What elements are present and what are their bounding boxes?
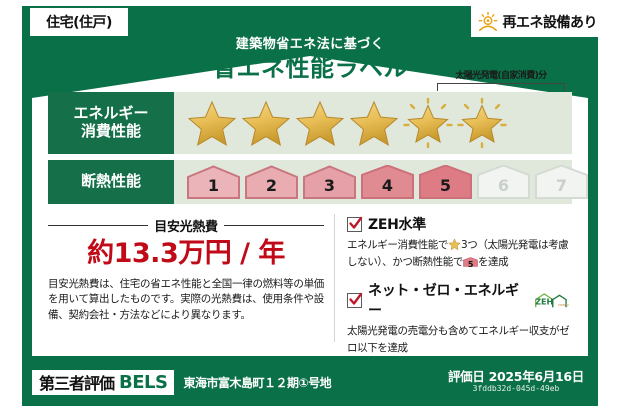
bels-jp-label: 第三者評価	[39, 370, 114, 394]
energy-performance-label: 住宅(住戸) 再エネ設備あり 建築物省エネ法に基づく 省エネ性能ラベル	[0, 0, 620, 413]
svg-text:nearly: nearly	[558, 303, 569, 307]
utility-cost-block: 目安光熱費 約13.3万円 / 年 目安光熱費は、住宅の省エネ性能と全国一律の燃…	[48, 214, 334, 342]
label-footer: 第三者評価 BELS 東海市富木島町１２期①号地 評価日 2025年6月16日 …	[32, 364, 588, 400]
star-icon	[186, 98, 238, 148]
evaluation-id: 3fddb32d-045d-49eb	[448, 384, 584, 394]
checkbox-checked-icon	[347, 293, 362, 308]
net-zero-heading: ネット・ゼロ・エネルギー ZEH nearly	[347, 280, 572, 320]
energy-label-line2: 消費性能	[81, 123, 141, 141]
grade-value: 4	[382, 176, 393, 195]
grade-value: 7	[556, 176, 567, 195]
energy-label-line1: エネルギー	[73, 105, 148, 123]
grade-value: 6	[498, 176, 509, 195]
zeh-logo-icon: ZEH nearly	[530, 292, 572, 309]
star-icon	[448, 238, 461, 251]
zeh-body-pre: エネルギー消費性能で	[347, 239, 448, 251]
grade-value: 3	[324, 176, 335, 195]
grade-value: 5	[440, 176, 451, 195]
star-icon-solar	[402, 98, 454, 148]
zeh-standard-body: エネルギー消費性能で3つ（太陽光発電は考慮しない）、かつ断熱性能で5を達成	[347, 237, 572, 271]
insulation-performance-row: 断熱性能 1 2 3 4	[48, 160, 572, 204]
zeh-body-post: を達成	[478, 256, 508, 268]
utility-cost-title: 目安光熱費	[154, 216, 218, 235]
renewable-equipment-badge: 再エネ設備あり	[471, 6, 607, 37]
zeh-standard-title: ZEH水準	[368, 214, 426, 234]
bels-badge: 第三者評価 BELS	[32, 370, 174, 395]
evaluation-date: 評価日 2025年6月16日	[448, 370, 584, 384]
insulation-grade-1: 1	[186, 165, 241, 199]
checkbox-checked-icon	[347, 217, 362, 232]
details-section: 目安光熱費 約13.3万円 / 年 目安光熱費は、住宅の省エネ性能と全国一律の燃…	[48, 214, 572, 342]
insulation-grade-scale: 1 2 3 4 5	[174, 165, 589, 199]
utility-cost-note: 目安光熱費は、住宅の省エネ性能と全国一律の燃料等の単価を用いて算出したものです。…	[48, 277, 324, 324]
criteria-block: ZEH水準 エネルギー消費性能で3つ（太陽光発電は考慮しない）、かつ断熱性能で5…	[334, 214, 572, 342]
zeh-standard-heading: ZEH水準	[347, 214, 572, 234]
insulation-grade-4: 4	[360, 165, 415, 199]
evaluation-meta: 評価日 2025年6月16日 3fddb32d-045d-49eb	[448, 370, 588, 394]
insulation-grade-2: 2	[244, 165, 299, 199]
net-zero-energy-item: ネット・ゼロ・エネルギー ZEH nearly 太陽光発電の売電分も含めてエネル…	[347, 280, 572, 357]
net-zero-title: ネット・ゼロ・エネルギー	[368, 280, 524, 320]
building-type-badge: 住宅(住戸)	[30, 8, 128, 36]
insulation-label: 断熱性能	[81, 173, 141, 191]
inline-grade-value: 5	[468, 260, 473, 269]
star-icon	[240, 98, 292, 148]
star-icon	[294, 98, 346, 148]
bracket-line	[437, 83, 565, 91]
zeh-standard-item: ZEH水準 エネルギー消費性能で3つ（太陽光発電は考慮しない）、かつ断熱性能で5…	[347, 214, 572, 271]
net-zero-body: 太陽光発電の売電分も含めてエネルギー収支がゼロ以下を達成	[347, 323, 572, 357]
rule-left	[48, 225, 148, 226]
insulation-grade-3: 3	[302, 165, 357, 199]
utility-cost-heading: 目安光熱費	[48, 216, 324, 235]
solar-bracket: 太陽光発電(自家消費)分	[437, 72, 565, 98]
sun-icon	[477, 11, 499, 33]
insulation-grade-7: 7	[534, 165, 589, 199]
bels-en-label: BELS	[119, 372, 167, 393]
insulation-grade-6: 6	[476, 165, 531, 199]
energy-star-rating: 太陽光発電(自家消費)分	[174, 98, 572, 148]
property-address: 東海市富木島町１２期①号地	[183, 374, 331, 391]
grade-value: 1	[208, 176, 219, 195]
renewable-equipment-label: 再エネ設備あり	[503, 12, 598, 32]
insulation-performance-label-box: 断熱性能	[48, 160, 174, 204]
energy-performance-row: エネルギー 消費性能	[48, 92, 572, 154]
star-icon-solar	[456, 98, 508, 148]
building-type-label: 住宅(住戸)	[46, 12, 112, 32]
rule-right	[224, 225, 324, 226]
grade-value: 2	[266, 176, 277, 195]
insulation-grade-5: 5	[418, 165, 473, 199]
svg-text:ZEH: ZEH	[535, 297, 553, 306]
inline-grade-badge: 5	[463, 256, 478, 268]
utility-cost-value: 約13.3万円 / 年	[48, 239, 324, 269]
energy-performance-label-box: エネルギー 消費性能	[48, 92, 174, 154]
solar-bracket-label: 太陽光発電(自家消費)分	[437, 72, 565, 81]
star-icon	[348, 98, 400, 148]
